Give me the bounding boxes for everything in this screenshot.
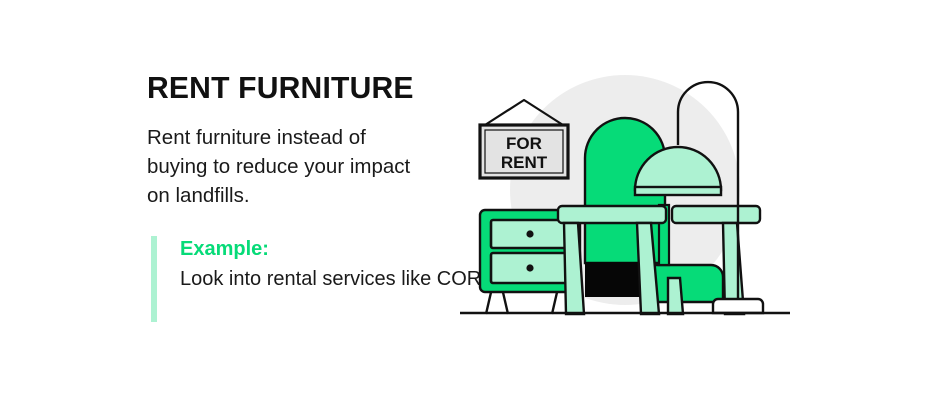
rent-furniture-card: RENT FURNITURE Rent furniture instead of… (0, 0, 934, 404)
page-title: RENT FURNITURE (147, 72, 438, 105)
sign-text-line2: RENT (501, 153, 548, 172)
armchair-armrest-left (558, 206, 666, 223)
armchair-leg-short-front (668, 278, 683, 314)
nightstand-knob-lower[interactable] (526, 264, 533, 271)
lamp-base (713, 299, 763, 313)
description-text: Rent furniture instead of buying to redu… (147, 123, 427, 210)
lamp-shade-rim (635, 187, 721, 195)
nightstand-knob-upper[interactable] (526, 230, 533, 237)
text-column: RENT FURNITURE Rent furniture instead of… (147, 72, 447, 210)
armchair-armrest-right (672, 206, 760, 223)
rent-furniture-illustration: FOR RENT (440, 50, 820, 340)
sign-text-line1: FOR (506, 134, 542, 153)
